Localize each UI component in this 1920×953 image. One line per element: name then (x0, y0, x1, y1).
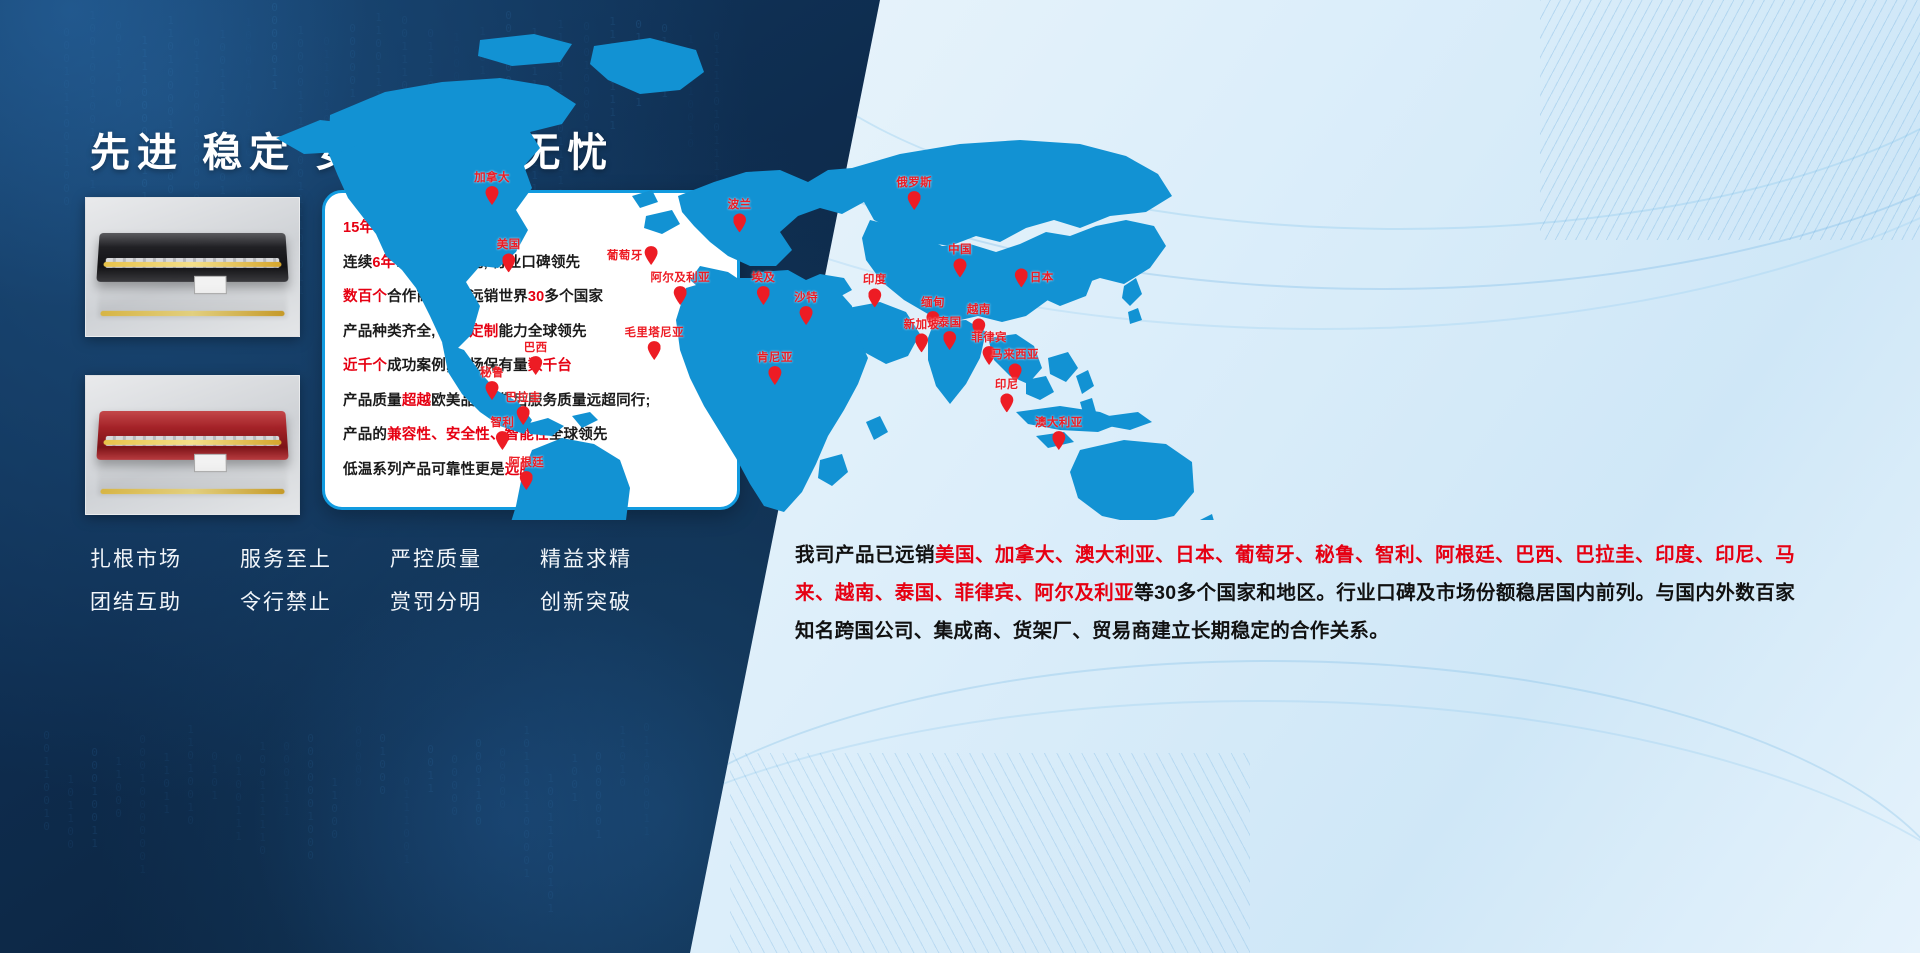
line-pattern-bottom-left (730, 753, 1250, 953)
location-pin-icon (954, 259, 967, 278)
map-pin-毛里塔尼亚: 毛里塔尼亚 (648, 337, 661, 360)
map-pin-label: 菲律宾 (971, 329, 1007, 345)
map-pin-肯尼亚: 肯尼亚 (768, 362, 781, 385)
map-pin-日本: 日本 (1015, 265, 1028, 288)
map-pin-新加坡: 新加坡 (915, 330, 928, 353)
location-pin-icon (645, 246, 658, 265)
location-pin-icon (674, 286, 687, 305)
map-pin-label: 巴拉圭 (505, 389, 541, 405)
map-pin-印度: 印度 (868, 285, 881, 308)
map-pin-label: 葡萄牙 (607, 247, 643, 263)
location-pin-icon (868, 289, 881, 308)
map-pin-印尼: 印尼 (1000, 390, 1013, 413)
location-pin-icon (733, 214, 746, 233)
map-pin-label: 阿根廷 (508, 454, 544, 470)
world-map: 加拿大美国巴西秘鲁巴拉圭智利阿根廷葡萄牙阿尔及利亚波兰埃及沙特毛里塔尼亚肯尼亚俄… (180, 20, 1220, 520)
map-pin-泰国: 泰国 (943, 327, 956, 350)
slogan-row-2: 团结互助令行禁止赏罚分明创新突破 (90, 581, 690, 624)
map-pin-label: 埃及 (752, 269, 776, 285)
location-pin-icon (496, 431, 509, 450)
slogan-item: 扎根市场 (90, 538, 240, 581)
map-pin-阿尔及利亚: 阿尔及利亚 (674, 282, 687, 305)
map-pin-巴西: 巴西 (529, 352, 542, 375)
map-pin-label: 马来西亚 (991, 347, 1039, 363)
map-pin-label: 智利 (490, 414, 514, 430)
caption-text: 我司产品已远销 (795, 544, 935, 566)
slogan-item: 创新突破 (540, 581, 690, 624)
map-pin-label: 巴西 (524, 339, 548, 355)
slogan-item: 赏罚分明 (390, 581, 540, 624)
location-pin-icon (648, 341, 661, 360)
slogan-grid: 扎根市场服务至上严控质量精益求精 团结互助令行禁止赏罚分明创新突破 (90, 538, 690, 624)
location-pin-icon (800, 306, 813, 325)
slogan-item: 令行禁止 (240, 581, 390, 624)
map-pin-label: 阿尔及利亚 (650, 269, 710, 285)
map-pin-label: 中国 (948, 242, 972, 258)
map-pin-label: 澳大利亚 (1035, 414, 1083, 430)
map-pin-label: 泰国 (938, 314, 962, 330)
location-pin-icon (517, 406, 530, 425)
location-pin-icon (768, 366, 781, 385)
map-pin-label: 沙特 (794, 289, 818, 305)
map-pin-label: 加拿大 (474, 169, 510, 185)
map-pin-沙特: 沙特 (800, 302, 813, 325)
map-pin-label: 日本 (1030, 270, 1054, 286)
slogan-item: 精益求精 (540, 538, 690, 581)
location-pin-icon (943, 331, 956, 350)
map-pin-巴拉圭: 巴拉圭 (517, 402, 530, 425)
map-pin-label: 美国 (497, 237, 521, 253)
slogan-item: 团结互助 (90, 581, 240, 624)
map-pin-label: 俄罗斯 (896, 174, 932, 190)
slogan-row-1: 扎根市场服务至上严控质量精益求精 (90, 538, 690, 581)
map-pin-智利: 智利 (496, 427, 509, 450)
location-pin-icon (1015, 269, 1028, 288)
line-pattern-top-right (1540, 0, 1920, 240)
map-pin-label: 缅甸 (921, 294, 945, 310)
location-pin-icon (502, 254, 515, 273)
location-pin-icon (908, 191, 921, 210)
caption-paragraph: 我司产品已远销美国、加拿大、澳大利亚、日本、葡萄牙、秘鲁、智利、阿根廷、巴西、巴… (795, 536, 1795, 650)
map-pin-label: 新加坡 (904, 317, 940, 333)
location-pin-icon (520, 471, 533, 490)
map-pin-俄罗斯: 俄罗斯 (908, 187, 921, 210)
map-pin-label: 肯尼亚 (757, 349, 793, 365)
location-pin-icon (529, 356, 542, 375)
map-pin-埃及: 埃及 (757, 282, 770, 305)
map-pin-阿根廷: 阿根廷 (520, 467, 533, 490)
slogan-item: 严控质量 (390, 538, 540, 581)
map-pin-label: 印尼 (995, 377, 1019, 393)
location-pin-icon (1052, 431, 1065, 450)
map-pin-秘鲁: 秘鲁 (486, 377, 499, 400)
location-pin-icon (915, 334, 928, 353)
map-pin-label: 秘鲁 (480, 364, 504, 380)
map-pin-加拿大: 加拿大 (486, 182, 499, 205)
map-pin-label: 印度 (863, 272, 887, 288)
map-pin-label: 越南 (967, 302, 991, 318)
map-pin-澳大利亚: 澳大利亚 (1052, 427, 1065, 450)
map-pin-中国: 中国 (954, 255, 967, 278)
location-pin-icon (486, 186, 499, 205)
location-pin-icon (486, 381, 499, 400)
map-pin-波兰: 波兰 (733, 210, 746, 233)
location-pin-icon (757, 286, 770, 305)
slogan-item: 服务至上 (240, 538, 390, 581)
promo-banner: 0 0 0 1 0 1 1 0 0 1 1 0 0 0 0 0 1 1 0 0 … (0, 0, 1920, 953)
map-pin-label: 毛里塔尼亚 (624, 324, 684, 340)
map-pin-美国: 美国 (502, 250, 515, 273)
map-pin-label: 波兰 (728, 197, 752, 213)
map-pin-葡萄牙: 葡萄牙 (645, 242, 658, 265)
location-pin-icon (1000, 394, 1013, 413)
